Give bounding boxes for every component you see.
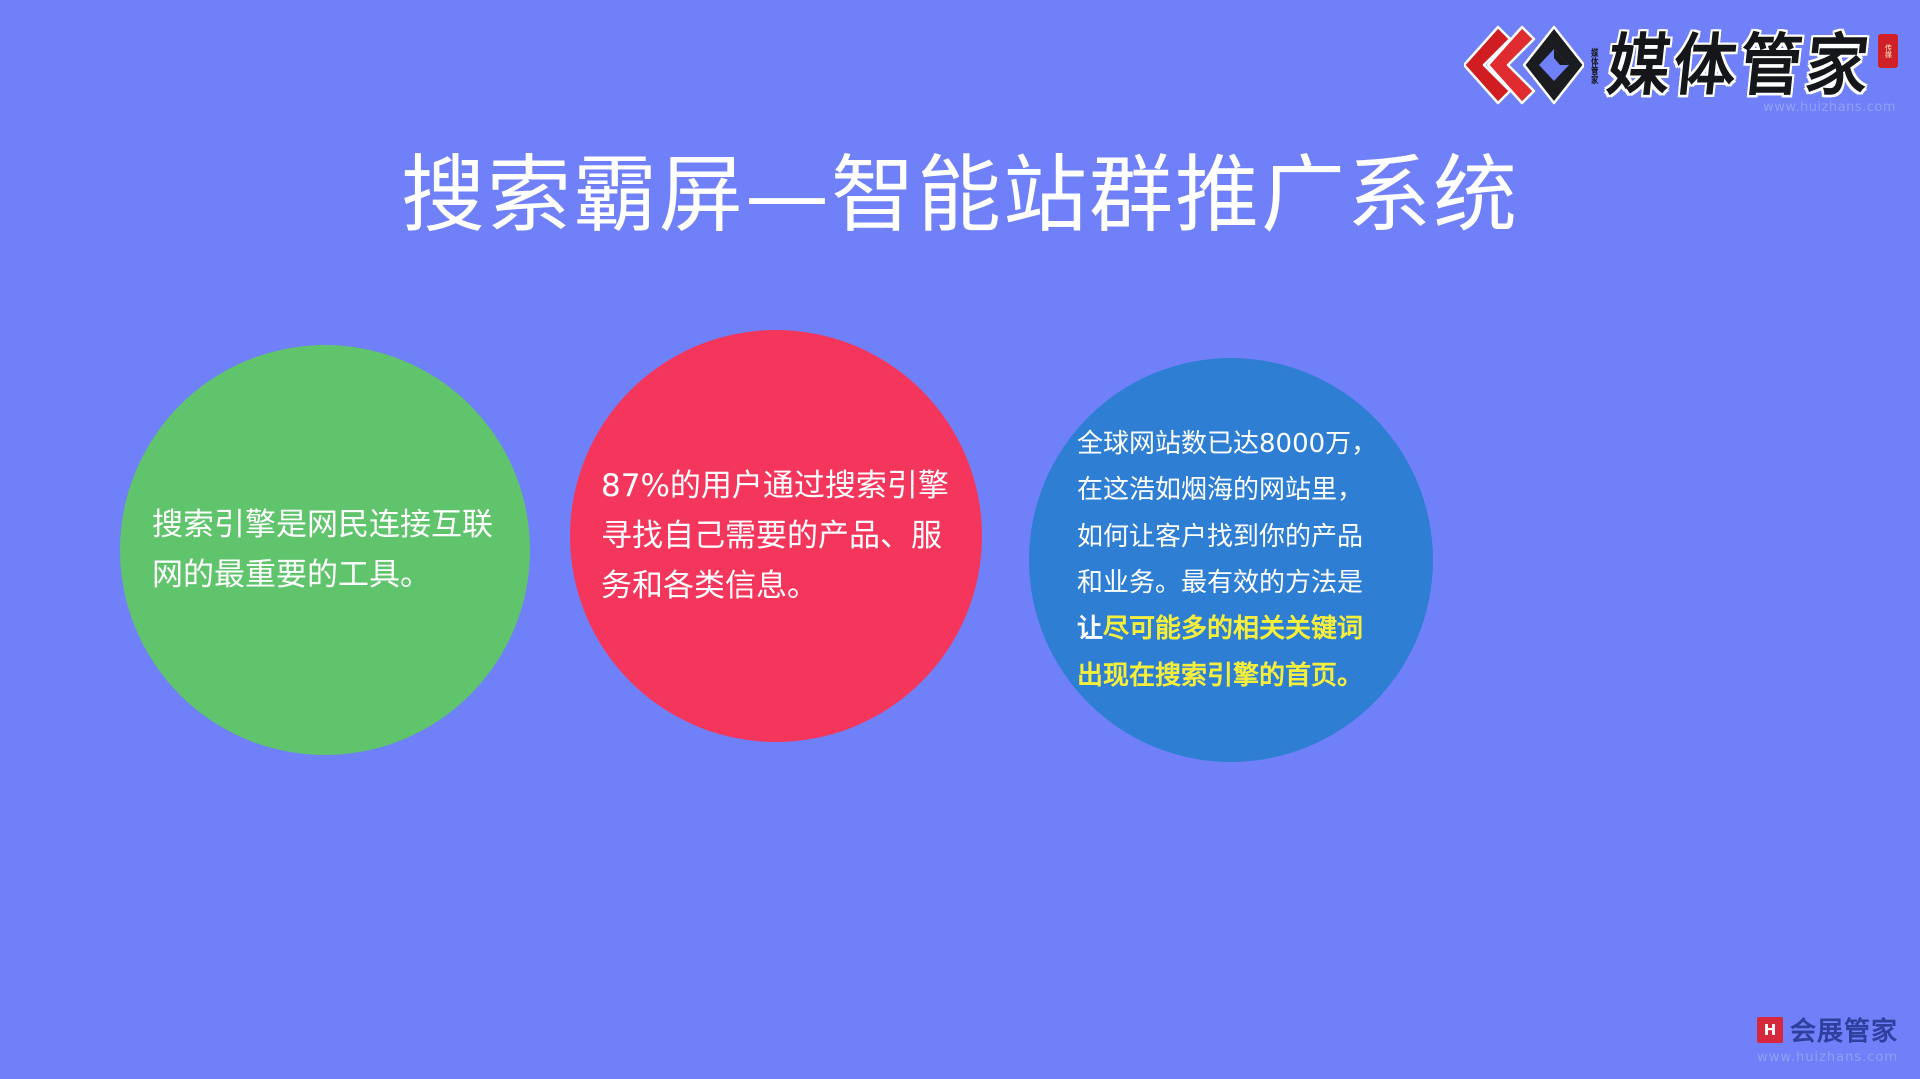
watermark-bottom-url: www.huizhans.com — [1757, 1050, 1898, 1065]
bubble-blue-highlight: 尽可能多的相关关键词出现在搜索引擎的首页。 — [1077, 614, 1363, 690]
watermark-top-url: www.huizhans.com — [1763, 100, 1896, 115]
bubble-blue-lead: 全球网站数已达8000万，在这浩如烟海的网站里，如何让客户找到你的产品和业务。最… — [1077, 429, 1377, 598]
watermark-bottom-row: H 会展管家 — [1757, 1011, 1898, 1048]
bubble-green-text: 搜索引擎是网民连接互联网的最重要的工具。 — [144, 500, 506, 600]
logo-wordmark: 媒体管家 — [1604, 33, 1875, 100]
huizhans-badge-icon: H — [1757, 1017, 1783, 1043]
logo-stamp-icon: 传媒 — [1878, 34, 1898, 68]
bubble-blue-lead-tail: 让 — [1077, 614, 1103, 644]
bubble-blue-text: 全球网站数已达8000万，在这浩如烟海的网站里，如何让客户找到你的产品和业务。最… — [1069, 421, 1393, 699]
chevron-diamond-mark-icon — [1464, 23, 1584, 109]
bubble-blue: 全球网站数已达8000万，在这浩如烟海的网站里，如何让客户找到你的产品和业务。最… — [1029, 358, 1433, 762]
page-title: 搜索霸屏—智能站群推广系统 — [0, 148, 1920, 242]
logo-seal-text: 媒体管家 — [1583, 35, 1604, 97]
bubble-red-text: 87%的用户通过搜索引擎寻找自己需要的产品、服务和各类信息。 — [593, 461, 959, 612]
slide-canvas: 媒体管家 媒体管家 传媒 www.huizhans.com 搜索霸屏—智能站群推… — [0, 0, 1920, 1079]
watermark-bottom: H 会展管家 www.huizhans.com — [1757, 1011, 1898, 1065]
watermark-bottom-name: 会展管家 — [1790, 1011, 1898, 1048]
bubble-red: 87%的用户通过搜索引擎寻找自己需要的产品、服务和各类信息。 — [570, 330, 982, 742]
bubble-green: 搜索引擎是网民连接互联网的最重要的工具。 — [120, 345, 530, 755]
